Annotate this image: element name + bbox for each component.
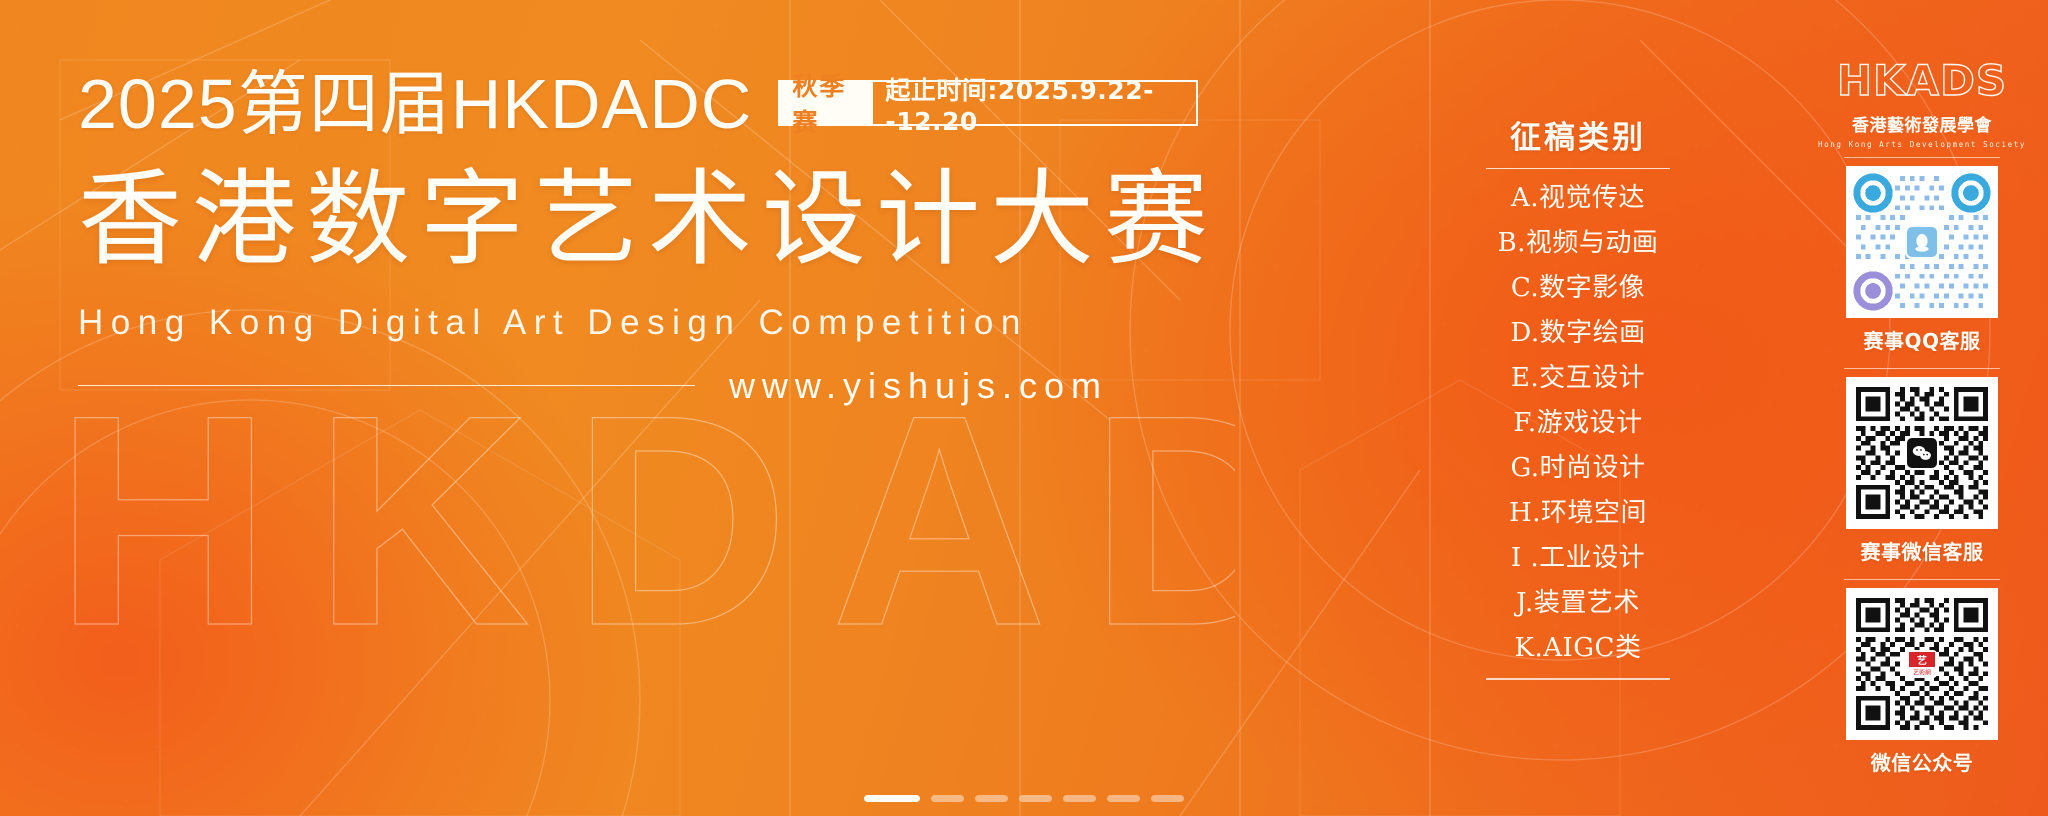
carousel-dot-2[interactable] xyxy=(931,795,964,802)
qr-label-wechat-official: 微信公众号 xyxy=(1871,747,1974,776)
organization-name-cn: 香港藝術發展學會 xyxy=(1852,111,1992,136)
deco-letter-d2: D xyxy=(1090,385,1235,655)
category-list: A.视觉传达 B.视频与动画 C.数字影像 D.数字绘画 E.交互设计 F.游戏… xyxy=(1478,175,1678,670)
website-row: www.yishujs.com xyxy=(78,365,1108,407)
deco-letter-k: K xyxy=(314,385,531,655)
title-row: 2025第四届HKDADC 秋季赛 起止时间:2025.9.22--12.20 xyxy=(78,52,1198,144)
carousel-dot-4[interactable] xyxy=(1019,795,1052,802)
category-item-g[interactable]: G.时尚设计 xyxy=(1478,445,1678,490)
category-item-f[interactable]: F.游戏设计 xyxy=(1478,400,1678,445)
category-item-a[interactable]: A.视觉传达 xyxy=(1478,175,1678,220)
category-column: 征稿类别 A.视觉传达 B.视频与动画 C.数字影像 D.数字绘画 E.交互设计… xyxy=(1478,112,1678,680)
carousel-dot-7[interactable] xyxy=(1151,795,1184,802)
wechat-glyph xyxy=(1912,445,1932,461)
qq-penguin-icon xyxy=(1905,225,1939,259)
carousel-dot-5[interactable] xyxy=(1063,795,1096,802)
category-heading: 征稿类别 xyxy=(1478,112,1678,157)
qr-code-wechat-official[interactable]: 艺 艺術網 xyxy=(1846,588,1998,740)
carousel-indicators[interactable] xyxy=(864,795,1184,802)
penguin-glyph xyxy=(1913,232,1931,252)
wechat-icon xyxy=(1905,436,1939,470)
qr-label-wechat-service: 赛事微信客服 xyxy=(1861,536,1984,565)
organization-name-en: Hong Kong Arts Development Society xyxy=(1818,140,2026,149)
category-item-c[interactable]: C.数字影像 xyxy=(1478,265,1678,310)
title-chinese: 香港数字艺术设计大赛 xyxy=(78,160,1198,279)
svg-text:艺: 艺 xyxy=(1917,654,1927,667)
qr-code-qq[interactable] xyxy=(1846,166,1998,318)
category-item-b[interactable]: B.视频与动画 xyxy=(1478,220,1678,265)
qr-column: HKADS 香港藝術發展學會 Hong Kong Arts Developmen… xyxy=(1836,60,2008,782)
hkads-logo-icon: HKADS xyxy=(1837,60,2007,102)
qr-divider-3 xyxy=(1844,579,2000,580)
category-item-j[interactable]: J.装置艺术 xyxy=(1478,580,1678,625)
category-item-h[interactable]: H.环境空间 xyxy=(1478,490,1678,535)
qr-divider-1 xyxy=(1844,157,2000,158)
qr-divider-2 xyxy=(1844,368,2000,369)
page-title: 2025第四届HKDADC xyxy=(78,48,752,149)
headline-block: 2025第四届HKDADC 秋季赛 起止时间:2025.9.22--12.20 … xyxy=(78,52,1198,407)
date-badge-group: 秋季赛 起止时间:2025.9.22--12.20 xyxy=(778,80,1198,126)
deco-letter-a: A xyxy=(831,385,1048,655)
deco-letter-d: D xyxy=(572,385,789,655)
category-item-d[interactable]: D.数字绘画 xyxy=(1478,310,1678,355)
qr-code-wechat-service[interactable] xyxy=(1846,377,1998,529)
svg-text:艺術網: 艺術網 xyxy=(1913,669,1931,677)
category-item-i[interactable]: I .工业设计 xyxy=(1478,535,1678,580)
category-heading-divider xyxy=(1486,168,1670,169)
category-item-k[interactable]: K.AIGC类 xyxy=(1478,625,1678,670)
date-range-badge: 起止时间:2025.9.22--12.20 xyxy=(873,80,1198,126)
website-url[interactable]: www.yishujs.com xyxy=(695,365,1108,407)
carousel-dot-6[interactable] xyxy=(1107,795,1140,802)
art-logo-glyph: 艺 艺術網 xyxy=(1909,652,1935,676)
art-logo-icon: 艺 艺術網 xyxy=(1907,650,1937,678)
deco-letter-h: H xyxy=(55,385,272,655)
decorative-letters: H K D A D C xyxy=(55,385,1235,705)
divider-rule xyxy=(78,385,695,387)
promo-banner: H K D A D C 2025第四届HKDADC 秋季赛 起止时间:2025.… xyxy=(0,0,2048,816)
qr-label-qq: 赛事QQ客服 xyxy=(1863,325,1980,354)
carousel-dot-1[interactable] xyxy=(864,795,920,802)
carousel-dot-3[interactable] xyxy=(975,795,1008,802)
category-bottom-divider xyxy=(1486,678,1670,679)
subtitle-english: Hong Kong Digital Art Design Competition xyxy=(78,303,1198,343)
season-badge: 秋季赛 xyxy=(778,80,873,126)
category-item-e[interactable]: E.交互设计 xyxy=(1478,355,1678,400)
